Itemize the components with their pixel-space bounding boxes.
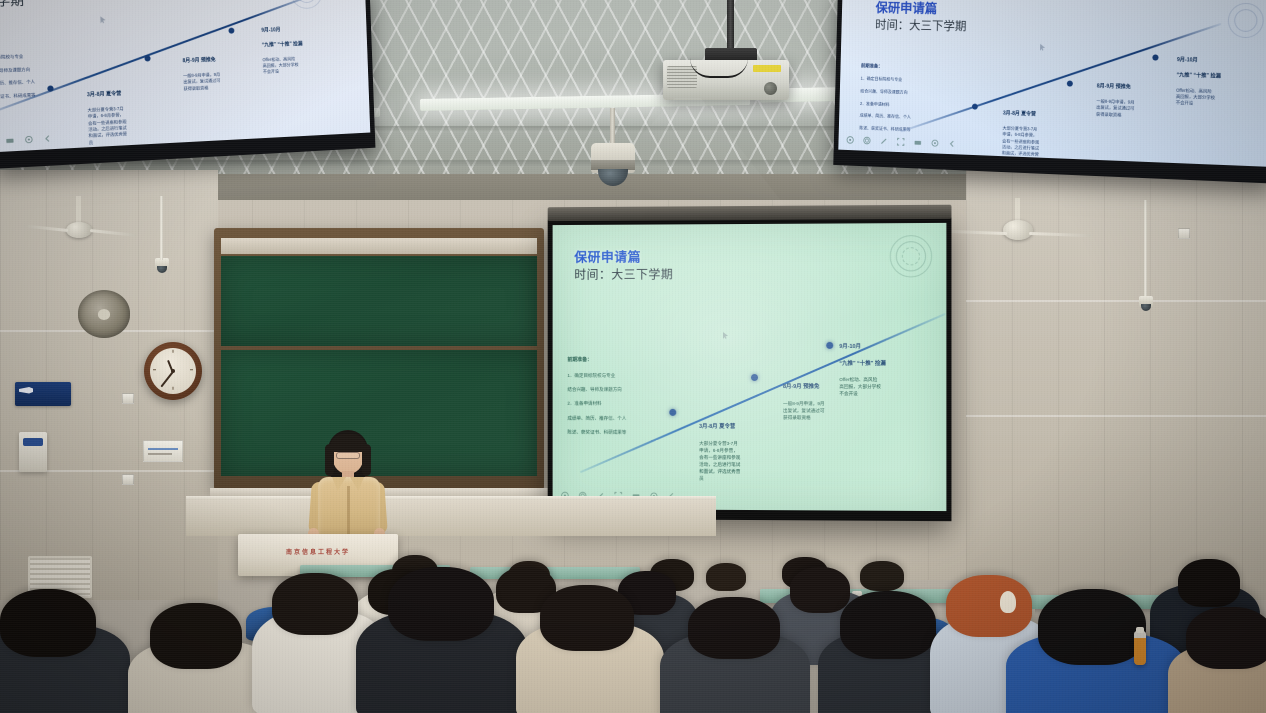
clock-tick <box>173 387 174 390</box>
preparation-line: 1．确定目标院校与专业 <box>861 76 903 82</box>
left-display-slide: 下学期 1．确定目标院校与专业 结合兴趣、导师及课题方向 成绩单、简历、推存信、… <box>0 0 370 152</box>
fan-blade <box>1029 232 1091 237</box>
right-display: 保研申请篇 时间：大三下学期 前期准备： 1．确定目标院校与专业 结合兴趣、导师… <box>833 0 1266 184</box>
timeline-stage-title: 8月-9月 预推免 <box>182 56 260 66</box>
preparation-line: 2．准备申请材料 <box>567 401 601 406</box>
timeline-stage-body: 一般8-9月申请，9月 出复试，复试通过可 获得录取资格 <box>183 72 220 91</box>
audience-head <box>1186 607 1266 669</box>
preparation-heading: 前期准备： <box>567 357 592 363</box>
projection-screen-roller <box>548 205 952 221</box>
timeline-stage-title: 9月-10月 <box>261 25 348 35</box>
slide-title: 保研申请篇 <box>574 247 641 266</box>
lecture-hall-photo: 保研申请篇 时间：大三下学期 前期准备： 1．确定目标院校与专业 结合兴趣、导师… <box>0 0 1266 713</box>
pen-icon[interactable] <box>879 137 888 146</box>
preparation-line: 1．确定目标院校与专业 <box>0 54 23 61</box>
presenter-glasses <box>336 452 360 459</box>
slide-title: 保研申请篇 <box>875 0 937 17</box>
timeline-stage-3: 9月-10月 “九推” “十推” 捡漏 Offer松动、高风险 高回报，大部分学… <box>1176 51 1266 110</box>
clock-center-pin <box>171 369 175 373</box>
audience-head <box>860 561 904 591</box>
audience-head <box>840 591 936 659</box>
audience-head <box>1038 589 1146 665</box>
timeline-stage-title: 3月-8月 夏令营 <box>1003 111 1078 121</box>
laser-pointer-icon[interactable] <box>24 135 34 145</box>
timeline-node-3 <box>228 28 234 34</box>
collapse-icon[interactable] <box>43 134 53 144</box>
timeline-stage-body: Offer松动、高风险 高回报，大部分学校 不会开设 <box>839 377 881 396</box>
presenter-at-podium <box>300 430 396 542</box>
timeline-stage-title: 9月-10月 <box>1177 57 1266 67</box>
projector-label-sticker <box>753 65 781 72</box>
timeline-stage-title: 3月-8月 夏令营 <box>87 89 164 100</box>
wall-outlet-left[interactable] <box>122 474 134 485</box>
timeline-node-1 <box>972 104 978 110</box>
timeline-stage-1: 3月-8月 夏令营 大部分夏令营3-7月 申请，6-8月参营， 会有一些讲座和参… <box>1002 105 1079 166</box>
clock-tick <box>153 369 156 370</box>
timeline-stage-1: 3月-8月 夏令营 大部分夏令营3-7月 申请，6-8月参营， 会有一些讲座和参… <box>87 83 166 146</box>
preparation-line: 成绩单、简历、推存信、个人 <box>0 79 35 86</box>
blackboard-top-rail <box>221 238 537 254</box>
timeline-stage-body: Offer松动、高风险 高回报，大部分学校 不会开设 <box>262 56 298 75</box>
laser-pointer-icon[interactable] <box>931 139 940 148</box>
audience-head <box>388 567 494 641</box>
right-display-slide: 保研申请篇 时间：大三下学期 前期准备： 1．确定目标院校与专业 结合兴趣、导师… <box>838 0 1266 167</box>
preparation-line: 结合兴趣、导师及课题方向 <box>860 88 907 94</box>
slide-subtitle: 时间：大三下学期 <box>574 265 673 282</box>
timeline-stage-body: 大部分夏令营3-7月 申请，6-8月参营， 会有一些讲座和参观 活动，之后进行笔… <box>1002 125 1040 161</box>
preparation-block: 前期准备： 1．确定目标院校与专业 结合兴趣、导师及课题方向 2．准备申请材料 … <box>567 349 686 436</box>
clock-face <box>150 348 196 394</box>
timeline-node-3 <box>1152 54 1158 60</box>
wall-notice-card <box>143 440 183 462</box>
wall-conduit-left <box>160 196 163 260</box>
hair-clip <box>1000 591 1016 613</box>
left-display-subtitle: 下学期 <box>0 0 24 10</box>
wall-switch-left[interactable] <box>122 393 134 404</box>
audience-head <box>540 585 634 651</box>
timeline-node-1 <box>669 409 676 416</box>
preparation-line: 成绩单、简历、推存信、个人 <box>860 113 911 120</box>
presenter-fringe <box>330 434 366 452</box>
timeline-stage-body: 一般8-9月申请，9月 出复试，复试通过可 获得录取资格 <box>783 401 825 420</box>
audience-head <box>688 597 780 659</box>
timeline-stage-title: 9月-10月 <box>839 343 932 351</box>
presenter-hair-side <box>325 444 334 476</box>
fullscreen-icon[interactable] <box>896 137 905 146</box>
notes-icon[interactable] <box>5 136 15 146</box>
drink-bottle <box>1134 631 1146 665</box>
wall-speaker <box>78 290 130 338</box>
preparation-line: 结合兴趣、导师及课题方向 <box>567 387 621 392</box>
camera-icon[interactable] <box>863 136 872 145</box>
timeline-node-2 <box>751 374 758 381</box>
preparation-line: 1．确定目标院校与专业 <box>567 373 615 378</box>
wall-security-camera-right <box>1139 296 1153 307</box>
mouse-cursor <box>1040 44 1045 51</box>
wall-conduit-right <box>1144 200 1147 298</box>
timeline-stage-2: 8月-9月 预推免 一般8-9月申请，9月 出复试，复试通过可 获得录取资格 <box>182 49 261 92</box>
wall-fan-left <box>46 196 136 266</box>
audience-head <box>272 573 358 635</box>
ceiling-fan-right <box>955 198 1085 268</box>
university-seal-watermark <box>890 235 933 277</box>
dome-camera-pole <box>610 108 615 146</box>
university-seal-watermark <box>1227 3 1264 39</box>
wall-clock <box>144 342 202 400</box>
seated-audience <box>0 545 1266 713</box>
fan-hub <box>1003 220 1033 240</box>
blackboard-panel-upper <box>221 256 537 346</box>
bottle-cap <box>1136 627 1144 633</box>
timeline-stage-title: 8月-9月 预推免 <box>1097 84 1179 94</box>
audience-head <box>790 567 850 613</box>
audience-head <box>946 575 1032 637</box>
audience-head <box>150 603 242 669</box>
audience-head <box>0 589 96 657</box>
wall-switch-right[interactable] <box>1178 228 1190 239</box>
slide-toolbar[interactable] <box>846 135 957 148</box>
projector-mount-rod <box>727 0 734 52</box>
fan-blade <box>90 229 136 237</box>
fan-blade <box>945 230 1007 235</box>
mouse-cursor <box>100 16 105 23</box>
clock-tick <box>173 350 174 353</box>
timeline-node-2 <box>144 55 150 61</box>
presenter-hair-side <box>362 444 371 476</box>
preparation-heading: 前期准备： <box>861 63 883 68</box>
clock-tick <box>191 369 194 370</box>
timeline-node-2 <box>1067 80 1073 86</box>
slide-subtitle: 时间：大三下学期 <box>875 16 967 34</box>
record-icon[interactable] <box>846 135 855 144</box>
timeline-stage-title: 3月-8月 夏令营 <box>699 423 777 432</box>
timeline-stage-body: 大部分夏令营3-7月 申请，6-8月参营， 会有一些讲座和参观 活动，之后进行笔… <box>699 440 740 480</box>
audience-head <box>706 563 746 591</box>
left-display: 下学期 1．确定目标院校与专业 结合兴趣、导师及课题方向 成绩单、简历、推存信、… <box>0 0 375 169</box>
presenter-shirt-placket <box>347 486 350 536</box>
mouse-cursor <box>723 332 728 339</box>
timeline-node-3 <box>826 342 833 349</box>
timeline-stage-subtitle: “九推” “十推” 捡漏 <box>839 360 932 368</box>
timeline-stage-body: Offer松动、高风险 高回报，大部分学校 不会开设 <box>1176 87 1215 105</box>
fan-hub <box>66 222 92 238</box>
wall-seam-3 <box>966 300 1266 302</box>
timeline-stage-body: 一般8-9月申请，9月 出复试，复试通过可 获得录取资格 <box>1096 99 1135 118</box>
preparation-line: 陈述、获奖证书、科研成果等 <box>567 429 626 434</box>
stage-front <box>186 500 716 536</box>
wall-phone-unit <box>19 432 47 472</box>
surveillance-notice-sign <box>15 382 71 406</box>
preparation-line: 2．准备申请材料 <box>860 101 890 107</box>
desk <box>470 567 640 579</box>
collapse-icon[interactable] <box>948 139 957 148</box>
timeline-stage-subtitle: “九推” “十推” 捡漏 <box>262 40 349 50</box>
preparation-line: 成绩单、简历、推存信、个人 <box>567 415 626 420</box>
projection-screen: 保研申请篇 时间：大三下学期 前期准备： 1．确定目标院校与专业 结合兴趣、导师… <box>548 217 952 521</box>
wall-seam-4 <box>966 415 1266 417</box>
audience-head <box>1178 559 1240 607</box>
projector-lens <box>764 82 777 95</box>
timeline-stage-3: 9月-10月 “九推” “十推” 捡漏 Offer松动、高风险 高回报，大部分学… <box>261 19 350 75</box>
timeline-stage-subtitle: “九推” “十推” 捡漏 <box>1176 72 1266 82</box>
presentation-slide: 保研申请篇 时间：大三下学期 前期准备： 1．确定目标院校与专业 结合兴趣、导师… <box>553 223 947 511</box>
right-display-preparation: 前期准备： 1．确定目标院校与专业 结合兴趣、导师及课题方向 2．准备申请材料 … <box>859 57 961 135</box>
preparation-line: 结合兴趣、导师及课题方向 <box>0 67 30 74</box>
notes-icon[interactable] <box>913 138 922 147</box>
slide-toolbar[interactable] <box>5 134 53 146</box>
timeline-stage-2: 8月-9月 预推免 一般8-9月申请，9月 出复试，复试通过可 获得录取资格 <box>1096 77 1179 120</box>
timeline-stage-body: 大部分夏令营3-7月 申请，6-8月参营， 会有一些讲座和参观 活动，之后进行笔… <box>87 106 127 145</box>
timeline-stage-1: 3月-8月 夏令营 大部分夏令营3-7月 申请，6-8月参营， 会有一些讲座和参… <box>699 416 777 482</box>
timeline-stage-3: 9月-10月 “九推” “十推” 捡漏 Offer松动、高风险 高回报，大部分学… <box>839 336 932 398</box>
clock-minute-hand <box>161 371 174 387</box>
